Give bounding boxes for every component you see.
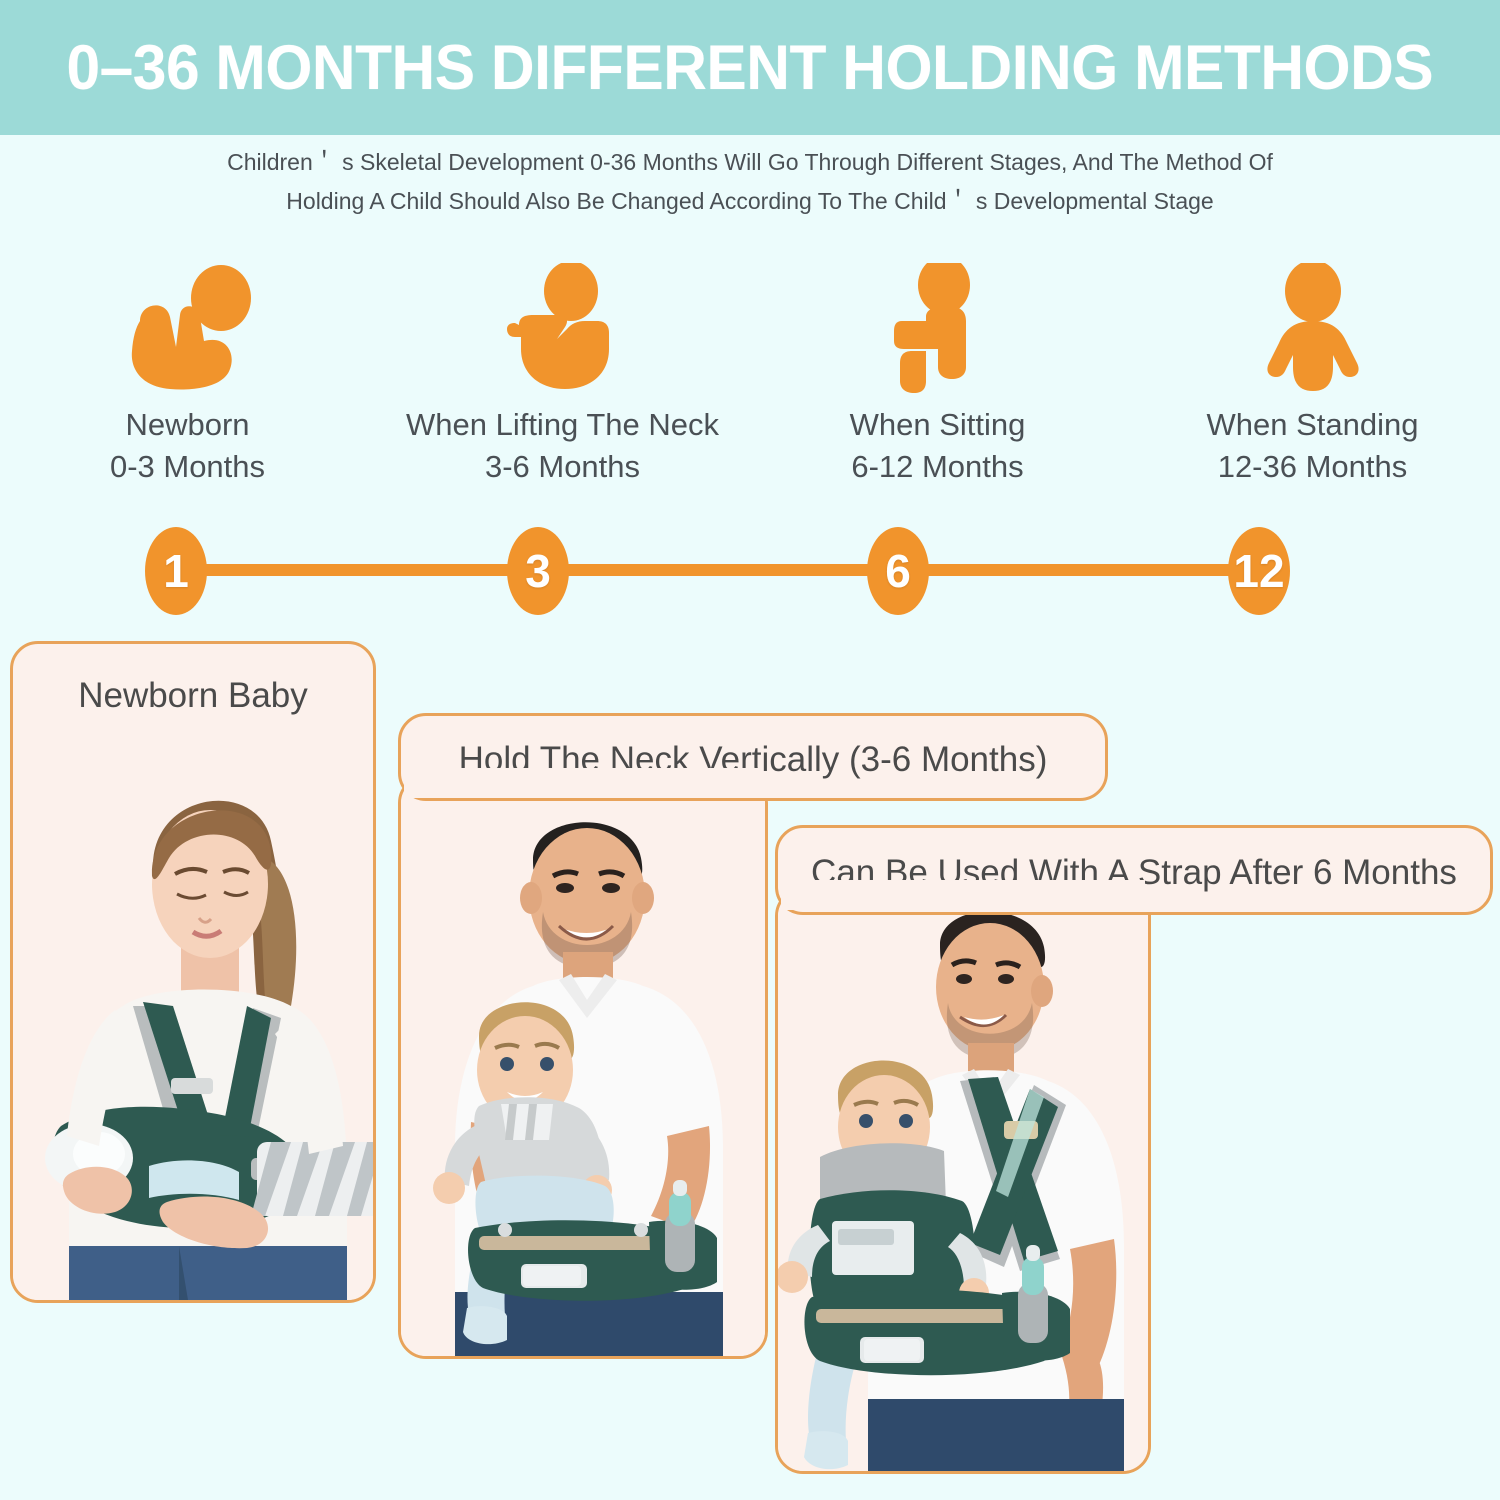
photo-card-strap-body [775, 888, 1151, 1474]
timeline-node-6[interactable]: 6 [867, 527, 929, 615]
stages-row: Newborn 0-3 Months When Lifting The Neck… [0, 258, 1500, 498]
stage-standing: When Standing 12-36 Months [1125, 258, 1500, 498]
stage-label: When Lifting The Neck 3-6 Months [406, 404, 719, 488]
subtitle-block: Children＇ s Skeletal Development 0-36 Mo… [0, 143, 1500, 221]
card2-seam-patch [404, 768, 762, 798]
card3-seam-patch [781, 880, 1145, 910]
timeline-node-12[interactable]: 12 [1228, 527, 1290, 615]
photo-father-holding-toddler [398, 788, 768, 1359]
stage-label: When Sitting 6-12 Months [850, 404, 1026, 488]
page-title: 0–36 MONTHS DIFFERENT HOLDING METHODS [67, 32, 1434, 104]
stage-lifting-neck: When Lifting The Neck 3-6 Months [375, 258, 750, 498]
stage-label: Newborn 0-3 Months [110, 404, 265, 488]
photo-mother-holding-newborn [10, 706, 376, 1303]
timeline-node-3[interactable]: 3 [507, 527, 569, 615]
stage-label: When Standing 12-36 Months [1207, 404, 1419, 488]
subtitle-line-1: Children＇ s Skeletal Development 0-36 Mo… [0, 143, 1500, 182]
header-banner: 0–36 MONTHS DIFFERENT HOLDING METHODS [0, 0, 1500, 135]
photo-card-hold-neck-body [398, 775, 768, 1359]
timeline-node-1[interactable]: 1 [145, 527, 207, 615]
photo-card-newborn: Newborn Baby [10, 641, 376, 1303]
stage-sitting: When Sitting 6-12 Months [750, 258, 1125, 498]
age-timeline: 1 3 6 12 [145, 527, 1310, 615]
baby-sitting-icon [858, 258, 1018, 398]
stage-newborn: Newborn 0-3 Months [0, 258, 375, 498]
baby-lying-icon [108, 258, 268, 398]
baby-standing-icon [1233, 258, 1393, 398]
photo-father-carrier-with-straps [775, 899, 1151, 1474]
baby-lifting-neck-icon [483, 258, 643, 398]
timeline-track [175, 564, 1280, 576]
card-title: Newborn Baby [13, 676, 373, 716]
subtitle-line-2: Holding A Child Should Also Be Changed A… [0, 182, 1500, 221]
